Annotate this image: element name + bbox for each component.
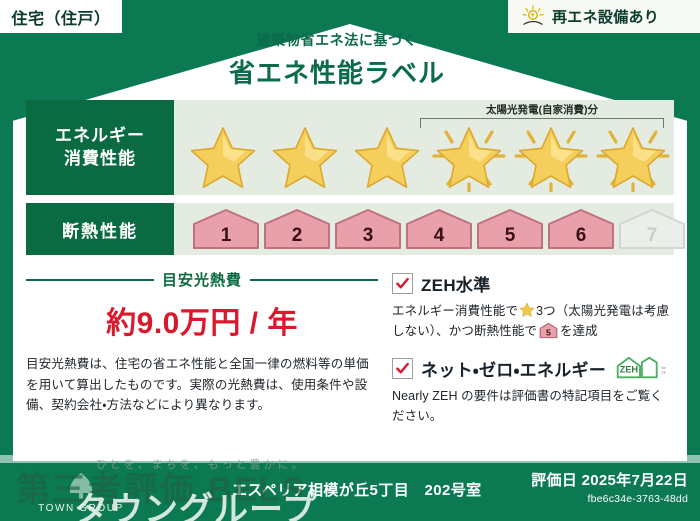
star-solar [430,122,508,192]
energy-label-line2: 消費性能 [64,148,136,171]
insulation-level-number: 2 [292,225,303,247]
energy-performance-label-box: エネルギー 消費性能 [26,100,174,195]
insulation-level-7: 7 [618,208,686,250]
energy-label-line1: エネルギー [55,125,145,148]
check-icon [395,361,410,376]
insulation-level-number: 5 [505,225,516,247]
insulation-level-scale: 1234567 [174,203,686,255]
insulation-level-number: 1 [221,225,232,247]
insulation-level-6: 6 [547,208,615,250]
net-zero-title: ネット・ゼロ・エネルギー [421,356,606,381]
evaluation-id: fbe6c34e-3763-48dd [531,493,688,505]
star-inline-icon [519,302,535,318]
insulation-level-number: 7 [647,225,658,247]
brand-logo: TOWN GROUP [6,467,156,517]
svg-text:ZEH: ZEH [662,371,667,375]
utility-cost-value: 約9.0万円 / 年 [26,298,378,342]
zeh-desc-part2: を達成 [560,324,598,338]
star-base [184,122,262,192]
utility-cost-panel: 目安光熱費 約9.0万円 / 年 目安光熱費は、住宅の省エネ性能と全国一律の燃料… [26,269,378,440]
zeh-panel: ZEH水準 エネルギー消費性能で3つ（太陽光発電は考慮しない）、かつ断熱性能で5… [392,269,674,440]
label-title-block: 建築物省エネ法に基づく 省エネ性能ラベル [0,30,674,90]
zeh-logo-sub: Nearly [662,366,667,370]
solar-bracket-label: 太陽光発電(自家消費)分 [416,102,668,117]
check-icon [395,276,410,291]
star-base [348,122,426,192]
zeh-standard-description: エネルギー消費性能で3つ（太陽光発電は考慮しない）、かつ断熱性能で5を達成 [392,301,674,341]
zeh-standard-checkbox[interactable] [392,273,413,294]
insulation-label: 断熱性能 [62,217,138,242]
zeh-standard-block: ZEH水準 エネルギー消費性能で3つ（太陽光発電は考慮しない）、かつ断熱性能で5… [392,271,674,341]
insulation-level-3: 3 [334,208,402,250]
label-footer: TOWN GROUP エスペリア相模が丘5丁目 202号室 評価日 2025年7… [0,461,700,521]
property-address: エスペリア相模が丘5丁目 202号室 [232,479,482,500]
energy-performance-row: エネルギー 消費性能 太陽光発電(自家消費)分 [26,100,674,195]
insulation-level-5: 5 [476,208,544,250]
zeh-desc-part1: エネルギー消費性能で [392,304,518,318]
insulation-level-inline-badge: 5 [539,322,558,339]
renewable-badge-label: 再エネ設備あり [552,6,659,27]
svg-text:5: 5 [546,327,551,337]
net-zero-checkbox[interactable] [392,358,413,379]
label-subtitle: 建築物省エネ法に基づく [0,30,674,50]
utility-cost-note: 目安光熱費は、住宅の省エネ性能と全国一律の燃料等の単価を用いて算出したものです。… [26,354,378,416]
zeh-standard-title: ZEH水準 [421,271,491,296]
brand-name: TOWN GROUP [38,503,124,514]
renewable-equipment-badge: 再エネ設備あり [508,0,700,33]
insulation-label-box: 断熱性能 [26,203,174,255]
utility-cost-heading-label: 目安光熱費 [162,269,242,290]
insulation-level-number: 6 [576,225,587,247]
utility-cost-heading: 目安光熱費 [26,269,378,290]
insulation-level-1: 1 [192,208,260,250]
energy-stars-area: 太陽光発電(自家消費)分 [174,100,674,195]
energy-performance-label: 住宅（住戸） 再エネ設備あり 建築物省エネ法に基づく 省エネ性能ラベル [0,0,700,521]
tree-icon [59,471,103,501]
net-zero-energy-block: ネット・ゼロ・エネルギー ZEH Nearly ZEH Nearly ZEH の… [392,355,674,426]
zeh-house-logo-icon: ZEH Nearly ZEH [614,355,666,381]
zeh-standard-title-row: ZEH水準 [392,271,674,296]
label-title: 省エネ性能ラベル [0,53,674,90]
energy-star-rating [174,122,674,192]
net-zero-title-row: ネット・ゼロ・エネルギー ZEH Nearly ZEH [392,355,674,381]
sun-icon [520,5,546,29]
label-bottom-section: 目安光熱費 約9.0万円 / 年 目安光熱費は、住宅の省エネ性能と全国一律の燃料… [26,269,674,440]
footer-meta: 評価日 2025年7月22日 fbe6c34e-3763-48dd [531,469,688,505]
star-solar [512,122,590,192]
star-solar [594,122,672,192]
rule-right [250,279,378,281]
star-base [266,122,344,192]
label-content: エネルギー 消費性能 太陽光発電(自家消費)分 断熱性能 1234567 [26,100,674,452]
evaluation-date: 評価日 2025年7月22日 [531,469,688,490]
rule-left [26,279,154,281]
building-type-chip: 住宅（住戸） [0,0,122,33]
insulation-performance-row: 断熱性能 1234567 [26,203,674,255]
insulation-level-4: 4 [405,208,473,250]
net-zero-description: Nearly ZEH の要件は評価書の特記項目をご覧ください。 [392,386,674,426]
svg-text:ZEH: ZEH [620,365,639,375]
insulation-level-number: 4 [434,225,445,247]
building-type-label: 住宅（住戸） [11,5,110,29]
insulation-level-number: 3 [363,225,374,247]
insulation-level-2: 2 [263,208,331,250]
